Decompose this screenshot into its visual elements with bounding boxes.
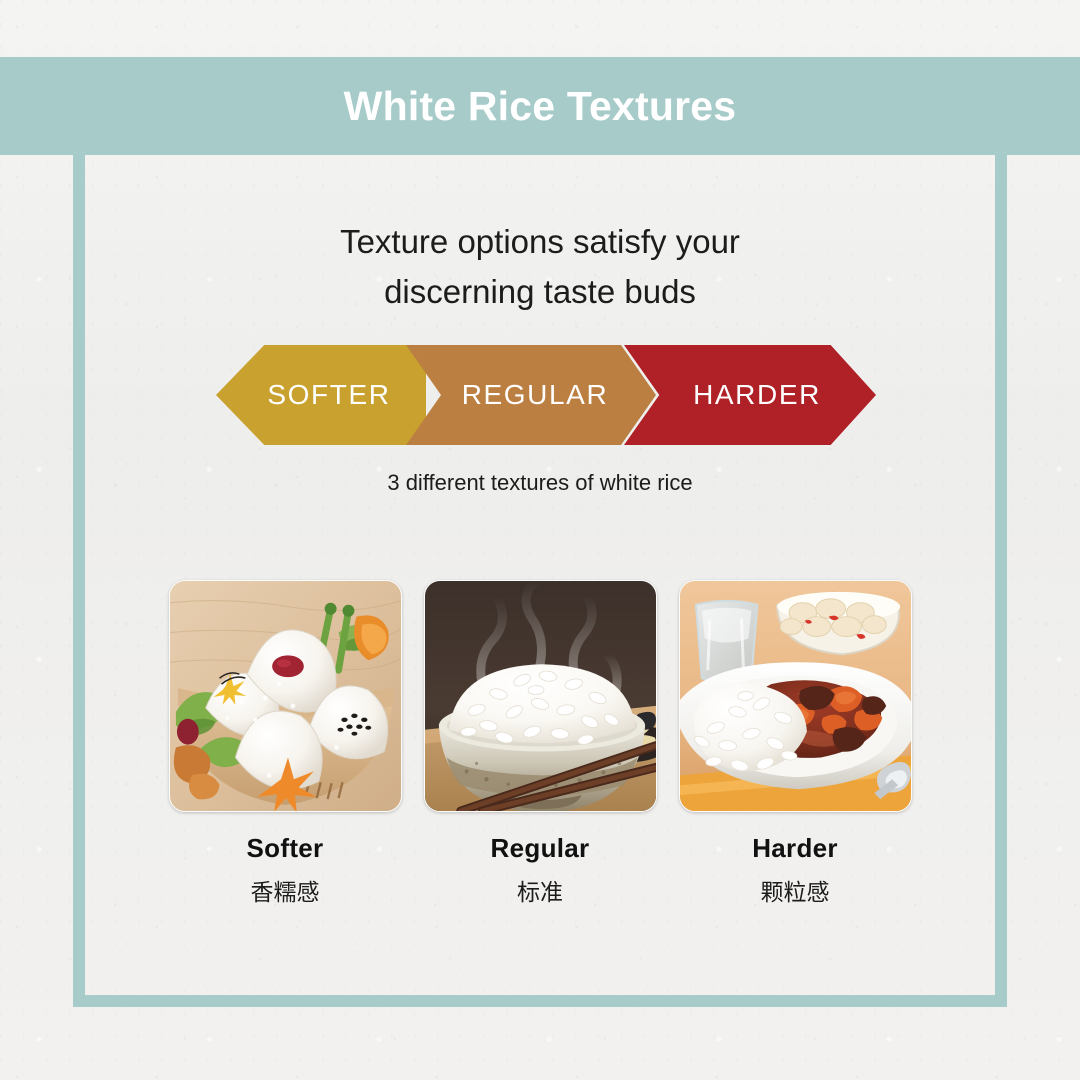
scale-caption: 3 different textures of white rice — [85, 470, 995, 496]
scale-segment-harder: HARDER — [624, 345, 876, 445]
texture-card-list: Softer 香糯感 — [85, 580, 995, 907]
texture-card-label-cn: 颗粒感 — [679, 873, 912, 907]
rice-bowl-photo — [424, 580, 657, 812]
texture-card-label-en: Harder — [679, 833, 912, 864]
content-area: Texture options satisfy your discerning … — [85, 155, 995, 995]
header-band: White Rice Textures — [0, 57, 1080, 155]
scale-segment-softer: SOFTER — [216, 345, 426, 445]
texture-card: Harder 颗粒感 — [679, 580, 912, 907]
subtitle: Texture options satisfy your discerning … — [85, 217, 995, 317]
texture-card: Softer 香糯感 — [169, 580, 402, 907]
texture-card: Regular 标准 — [424, 580, 657, 907]
subtitle-line-2: discerning taste buds — [85, 267, 995, 317]
frame-border-right — [995, 155, 1007, 1007]
texture-card-label-cn: 香糯感 — [169, 873, 402, 907]
scale-segment-harder-label: HARDER — [693, 379, 821, 411]
curry-rice-photo — [679, 580, 912, 812]
texture-card-label-en: Regular — [424, 833, 657, 864]
texture-card-label-cn: 标准 — [424, 873, 657, 907]
texture-scale-arrow: SOFTER REGULAR HARDER — [216, 345, 876, 445]
scale-segment-softer-label: SOFTER — [267, 379, 390, 411]
texture-card-label-en: Softer — [169, 833, 402, 864]
frame-border-bottom — [73, 995, 1007, 1007]
scale-segment-regular: REGULAR — [406, 345, 656, 445]
page-title: White Rice Textures — [344, 83, 737, 130]
poster-page: White Rice Textures Texture options sati… — [0, 0, 1080, 1080]
subtitle-line-1: Texture options satisfy your — [85, 217, 995, 267]
onigiri-bento-photo — [169, 580, 402, 812]
frame-border-left — [73, 155, 85, 1007]
scale-segment-regular-label: REGULAR — [462, 379, 609, 411]
